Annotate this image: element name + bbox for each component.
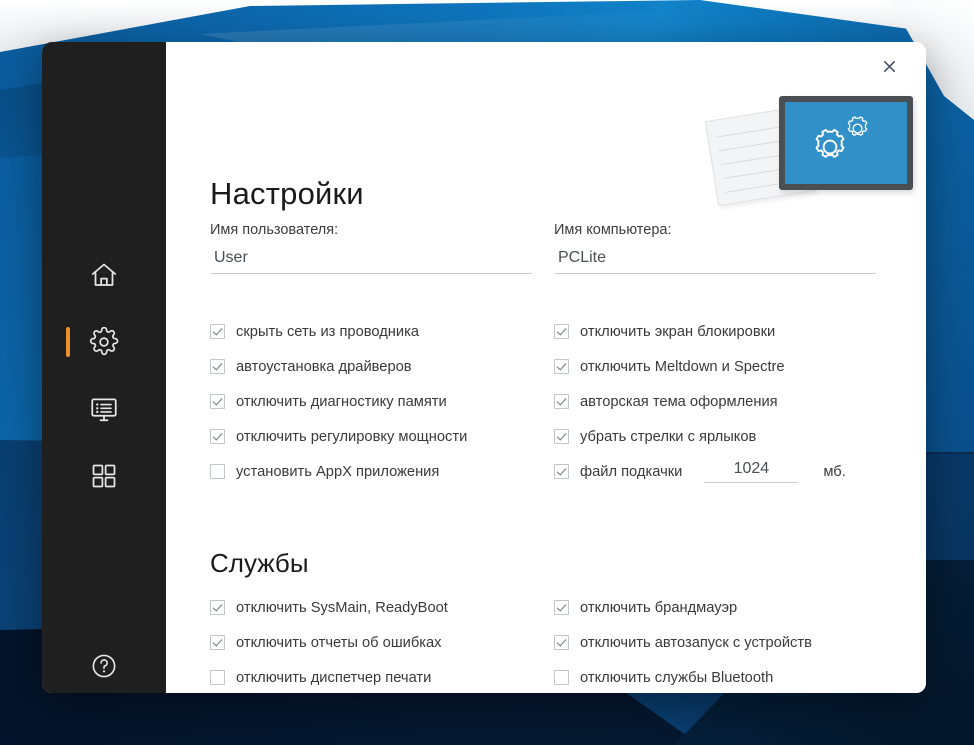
grid-apps-icon	[90, 462, 118, 490]
checkbox-label: отключить диагностику памяти	[236, 394, 447, 410]
page-title: Настройки	[210, 176, 364, 212]
checkbox-icon[interactable]	[554, 429, 569, 444]
computername-field-group: Имя компьютера:	[554, 222, 876, 274]
sidebar-item-help[interactable]	[42, 634, 166, 693]
monitor-gears-illustration	[711, 88, 911, 208]
checkbox-label: файл подкачки	[580, 464, 682, 480]
checkbox-row[interactable]: авторская тема оформления	[554, 384, 846, 419]
checkbox-row[interactable]: отключить экран блокировки	[554, 314, 846, 349]
checkbox-icon[interactable]	[210, 394, 225, 409]
gear-icon	[89, 327, 119, 357]
checkbox-row[interactable]: отключить диагностику памяти	[210, 384, 467, 419]
close-button[interactable]	[874, 54, 904, 84]
checkbox-label: отключить отчеты об ошибках	[236, 635, 442, 651]
monitor-screen	[779, 96, 913, 190]
checkbox-label: отключить диспетчер печати	[236, 670, 431, 686]
checkbox-icon[interactable]	[210, 600, 225, 615]
monitor-list-icon	[89, 394, 119, 424]
checkbox-icon[interactable]	[554, 600, 569, 615]
home-icon	[89, 260, 119, 290]
settings-window: Настройки	[42, 42, 926, 693]
checkbox-icon[interactable]	[554, 324, 569, 339]
active-indicator	[66, 327, 70, 357]
checkbox-row[interactable]: отключить SysMain, ReadyBoot	[210, 590, 448, 625]
computername-input[interactable]	[554, 249, 876, 274]
checkbox-row[interactable]: убрать стрелки с ярлыков	[554, 419, 846, 454]
checkbox-icon[interactable]	[210, 324, 225, 339]
username-field-group: Имя пользователя:	[210, 222, 532, 274]
services-section-title: Службы	[210, 548, 309, 579]
services-options-right: отключить брандмауэр отключить автозапус…	[554, 590, 812, 693]
checkbox-icon[interactable]	[554, 359, 569, 374]
checkbox-icon[interactable]	[210, 670, 225, 685]
close-icon	[882, 59, 897, 79]
checkbox-label: убрать стрелки с ярлыков	[580, 429, 756, 445]
checkbox-label: отключить регулировку мощности	[236, 429, 467, 445]
checkbox-label: отключить автозапуск с устройств	[580, 635, 812, 651]
pagefile-unit-label: мб.	[823, 464, 845, 480]
general-options-left: скрыть сеть из проводника автоустановка …	[210, 314, 467, 489]
checkbox-label: отключить службы Bluetooth	[580, 670, 773, 686]
pagefile-size-input[interactable]	[704, 460, 798, 483]
checkbox-icon[interactable]	[210, 635, 225, 650]
username-input[interactable]	[210, 249, 532, 274]
checkbox-icon[interactable]	[554, 464, 569, 479]
checkbox-row[interactable]: отключить службы Bluetooth	[554, 660, 812, 693]
checkbox-label: отключить экран блокировки	[580, 324, 775, 340]
checkbox-icon[interactable]	[210, 359, 225, 374]
checkbox-icon[interactable]	[210, 464, 225, 479]
checkbox-row[interactable]: автоустановка драйверов	[210, 349, 467, 384]
checkbox-label: отключить брандмауэр	[580, 600, 737, 616]
sidebar-item-settings[interactable]	[42, 310, 166, 374]
settings-content: Настройки	[166, 42, 926, 693]
sidebar-item-apps[interactable]	[42, 444, 166, 508]
checkbox-label: отключить SysMain, ReadyBoot	[236, 600, 448, 616]
sidebar-item-home[interactable]	[42, 243, 166, 307]
checkbox-icon[interactable]	[554, 670, 569, 685]
general-options-right: отключить экран блокировки отключить Mel…	[554, 314, 846, 489]
checkbox-row[interactable]: отключить автозапуск с устройств	[554, 625, 812, 660]
checkbox-icon[interactable]	[554, 394, 569, 409]
checkbox-row[interactable]: отключить брандмауэр	[554, 590, 812, 625]
checkbox-row[interactable]: отключить регулировку мощности	[210, 419, 467, 454]
computername-label: Имя компьютера:	[554, 222, 876, 238]
sidebar-item-monitor[interactable]	[42, 377, 166, 441]
checkbox-label: установить AppX приложения	[236, 464, 439, 480]
checkbox-label: отключить Meltdown и Spectre	[580, 359, 785, 375]
checkbox-label: скрыть сеть из проводника	[236, 324, 419, 340]
sidebar-nav	[42, 42, 166, 693]
services-options-left: отключить SysMain, ReadyBoot отключить о…	[210, 590, 448, 693]
checkbox-label: авторская тема оформления	[580, 394, 778, 410]
checkbox-icon[interactable]	[554, 635, 569, 650]
checkbox-row[interactable]: отключить отчеты об ошибках	[210, 625, 448, 660]
checkbox-row[interactable]: отключить Meltdown и Spectre	[554, 349, 846, 384]
question-circle-icon	[90, 652, 118, 680]
checkbox-row[interactable]: установить AppX приложения	[210, 454, 467, 489]
checkbox-row[interactable]: скрыть сеть из проводника	[210, 314, 467, 349]
username-label: Имя пользователя:	[210, 222, 532, 238]
checkbox-row[interactable]: отключить диспетчер печати	[210, 660, 448, 693]
pagefile-row[interactable]: файл подкачки мб.	[554, 454, 846, 489]
checkbox-label: автоустановка драйверов	[236, 359, 412, 375]
checkbox-icon[interactable]	[210, 429, 225, 444]
